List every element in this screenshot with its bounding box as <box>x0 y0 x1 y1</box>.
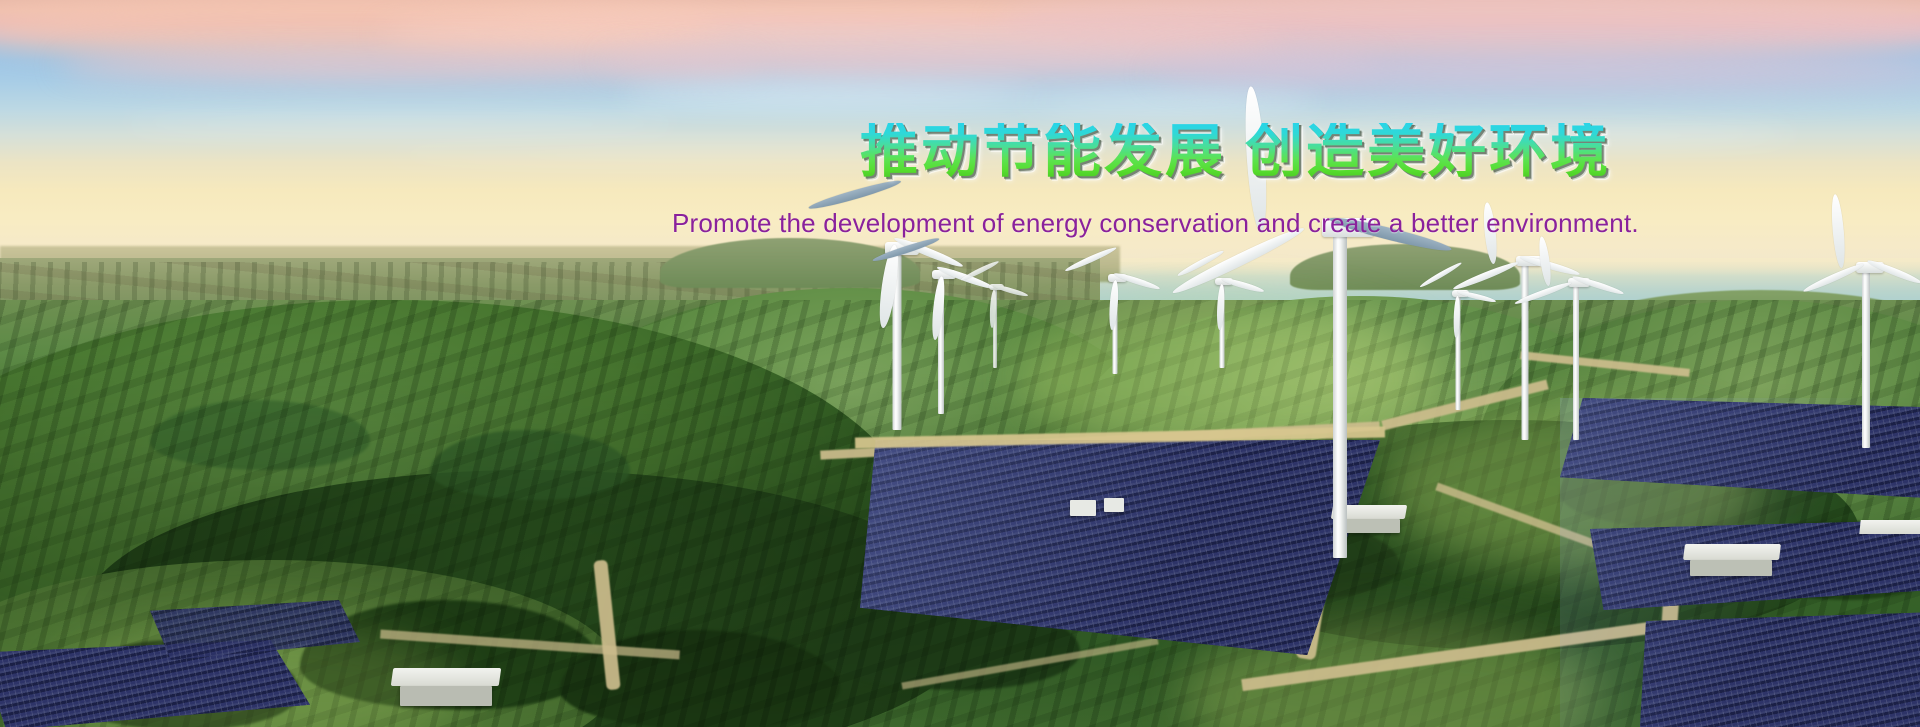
service-building-roof <box>1683 544 1781 560</box>
solar-panel-array <box>1640 612 1920 727</box>
hero-banner: 推动节能发展 创造美好环境 推动节能发展 创造美好环境 Promote the … <box>0 0 1920 727</box>
wind-turbine <box>1528 232 1624 442</box>
turbine-blade <box>1830 194 1847 269</box>
service-building <box>1690 560 1772 576</box>
service-building <box>400 686 492 706</box>
turbine-blade <box>1108 280 1119 330</box>
page-headline: 推动节能发展 创造美好环境 <box>860 123 1611 181</box>
wind-turbine <box>960 258 1030 368</box>
turbine-blade <box>1802 261 1865 294</box>
service-building-roof <box>1859 520 1920 534</box>
turbine-blade <box>930 276 947 341</box>
page-subtitle: Promote the development of energy conser… <box>672 208 1639 239</box>
turbine-mast <box>1862 268 1870 448</box>
turbine-blade <box>1064 245 1118 273</box>
inverter-hut <box>1070 500 1096 516</box>
wind-turbine <box>1812 190 1920 448</box>
turbine-mast <box>1573 282 1579 440</box>
turbine-blade <box>960 259 1000 282</box>
inverter-hut <box>1104 498 1124 512</box>
turbine-blade <box>1537 236 1553 287</box>
turbine-mast <box>1333 228 1347 558</box>
service-building-roof <box>391 668 502 686</box>
turbine-blade <box>993 283 1029 298</box>
wind-turbine <box>1070 244 1160 374</box>
